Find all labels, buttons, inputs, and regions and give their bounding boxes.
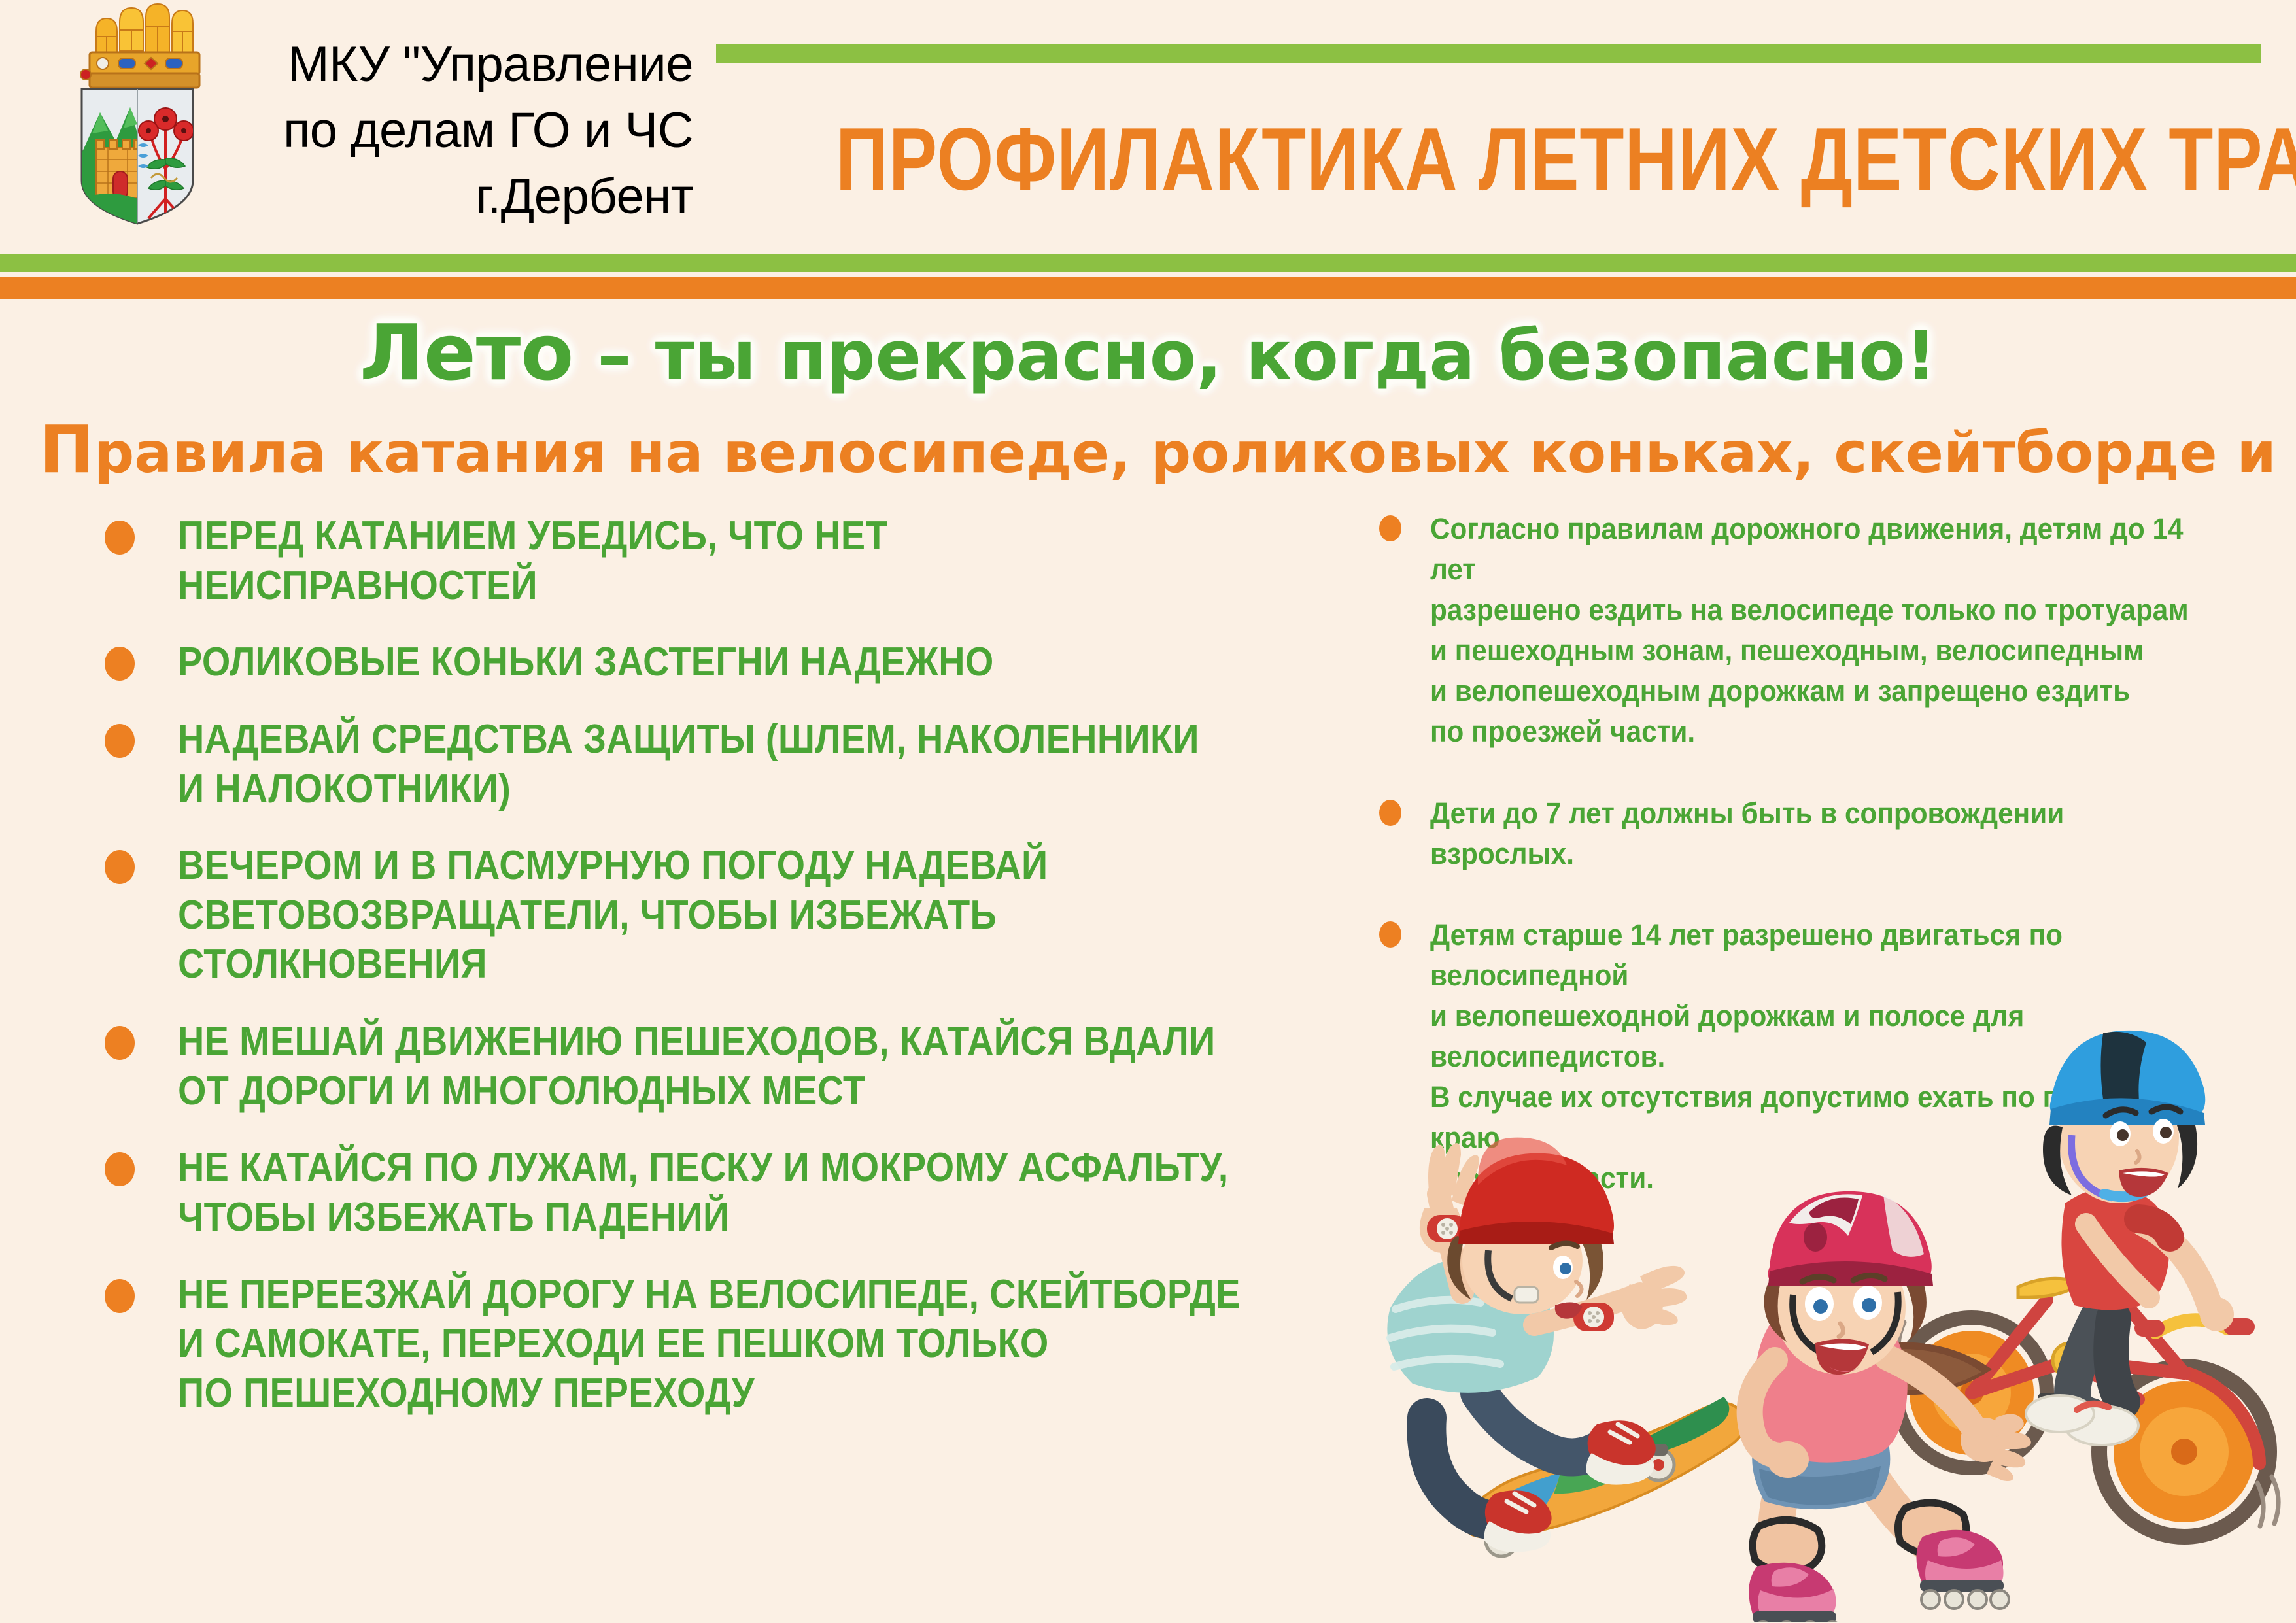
note-line: по проезжей части. (1430, 711, 2197, 752)
bullet-icon (105, 647, 135, 681)
rule-line: РОЛИКОВЫЕ КОНЬКИ ЗАСТЕГНИ НАДЕЖНО (178, 638, 1254, 687)
list-item: НЕ МЕШАЙ ДВИЖЕНИЮ ПЕШЕХОДОВ, КАТАЙСЯ ВДА… (98, 1017, 1373, 1116)
divider-orange-band (0, 277, 2296, 299)
list-item: Согласно правилам дорожного движения, де… (1377, 509, 2246, 753)
rule-line: СВЕТОВОЗВРАЩАТЕЛИ, ЧТОБЫ ИЗБЕЖАТЬ СТОЛКН… (178, 891, 1254, 989)
poster-header: МКУ "Управление по делам ГО и ЧС г.Дербе… (0, 0, 2296, 262)
bullet-icon (1379, 800, 1401, 826)
bullet-icon (105, 1152, 135, 1186)
section-heading-initial: П (39, 411, 94, 488)
subtitle-lead: Лето (360, 307, 574, 398)
coat-of-arms-image (62, 3, 213, 228)
note-line: и пешеходным зонам, пешеходным, велосипе… (1430, 630, 2197, 671)
divider-green-band (0, 254, 2296, 272)
list-item: НАДЕВАЙ СРЕДСТВА ЗАЩИТЫ (ШЛЕМ, НАКОЛЕННИ… (98, 715, 1373, 813)
org-name-line-3: г.Дербент (216, 163, 693, 230)
section-heading: Правила катания на велосипеде, роликовых… (39, 417, 2263, 483)
poster-root: МКУ "Управление по делам ГО и ЧС г.Дербе… (0, 0, 2296, 1623)
rule-line: НЕ МЕШАЙ ДВИЖЕНИЮ ПЕШЕХОДОВ, КАТАЙСЯ ВДА… (178, 1017, 1254, 1067)
note-line: Согласно правилам дорожного движения, де… (1430, 509, 2197, 590)
list-item: РОЛИКОВЫЕ КОНЬКИ ЗАСТЕГНИ НАДЕЖНО (98, 638, 1373, 687)
rule-line: НЕ ПЕРЕЕЗЖАЙ ДОРОГУ НА ВЕЛОСИПЕДЕ, СКЕЙТ… (178, 1270, 1254, 1320)
rule-line: И САМОКАТЕ, ПЕРЕХОДИ ЕЕ ПЕШКОМ ТОЛЬКО (178, 1319, 1254, 1369)
bullet-icon (105, 1026, 135, 1060)
rule-line: ОТ ДОРОГИ И МНОГОЛЮДНЫХ МЕСТ (178, 1067, 1254, 1116)
poster-subtitle: Лето – ты прекрасно, когда безопасно! (0, 313, 2296, 394)
note-line: и велопешеходным дорожкам и запрещено ез… (1430, 671, 2197, 711)
bullet-icon (1379, 515, 1401, 541)
skateboarder-figure (1387, 1138, 1745, 1556)
list-item: Дети до 7 лет должны быть в сопровождени… (1377, 793, 2246, 874)
list-item: ПЕРЕД КАТАНИЕМ УБЕДИСЬ, ЧТО НЕТ НЕИСПРАВ… (98, 511, 1373, 610)
rule-line: И НАЛОКОТНИКИ) (178, 764, 1254, 814)
rule-line: ПО ПЕШЕХОДНОМУ ПЕРЕХОДУ (178, 1369, 1254, 1418)
rule-line: ПЕРЕД КАТАНИЕМ УБЕДИСЬ, ЧТО НЕТ НЕИСПРАВ… (178, 511, 1254, 610)
header-green-rule (716, 44, 2261, 63)
bullet-icon (105, 521, 135, 555)
children-illustration (1367, 942, 2295, 1622)
list-item: НЕ ПЕРЕЕЗЖАЙ ДОРОГУ НА ВЕЛОСИПЕДЕ, СКЕЙТ… (98, 1270, 1373, 1418)
rules-list: ПЕРЕД КАТАНИЕМ УБЕДИСЬ, ЧТО НЕТ НЕИСПРАВ… (98, 511, 1373, 1445)
section-heading-text: равила катания на велосипеде, роликовых … (94, 420, 2296, 486)
org-name-line-2: по делам ГО и ЧС (216, 97, 693, 163)
rule-line: НАДЕВАЙ СРЕДСТВА ЗАЩИТЫ (ШЛЕМ, НАКОЛЕННИ… (178, 715, 1254, 764)
organisation-name: МКУ "Управление по делам ГО и ЧС г.Дербе… (216, 31, 693, 230)
page-title: ПРОФИЛАКТИКА ЛЕТНИХ ДЕТСКИХ ТРАВМ (836, 114, 2133, 203)
cyclist-figure (1883, 1031, 2278, 1537)
note-line: разрешено ездить на велосипеде только по… (1430, 590, 2197, 630)
note-line: Дети до 7 лет должны быть в сопровождени… (1430, 793, 2197, 874)
org-name-line-1: МКУ "Управление (216, 31, 693, 97)
bullet-icon (105, 1279, 135, 1313)
bullet-icon (105, 850, 135, 884)
list-item: ВЕЧЕРОМ И В ПАСМУРНУЮ ПОГОДУ НАДЕВАЙ СВЕ… (98, 841, 1373, 989)
rule-line: ВЕЧЕРОМ И В ПАСМУРНУЮ ПОГОДУ НАДЕВАЙ (178, 841, 1254, 891)
list-item: НЕ КАТАЙСЯ ПО ЛУЖАМ, ПЕСКУ И МОКРОМУ АСФ… (98, 1143, 1373, 1242)
rule-line: НЕ КАТАЙСЯ ПО ЛУЖАМ, ПЕСКУ И МОКРОМУ АСФ… (178, 1143, 1254, 1193)
subtitle-rest: – ты прекрасно, когда безопасно! (574, 316, 1936, 396)
bullet-icon (105, 724, 135, 758)
rule-line: ЧТОБЫ ИЗБЕЖАТЬ ПАДЕНИЙ (178, 1193, 1254, 1242)
